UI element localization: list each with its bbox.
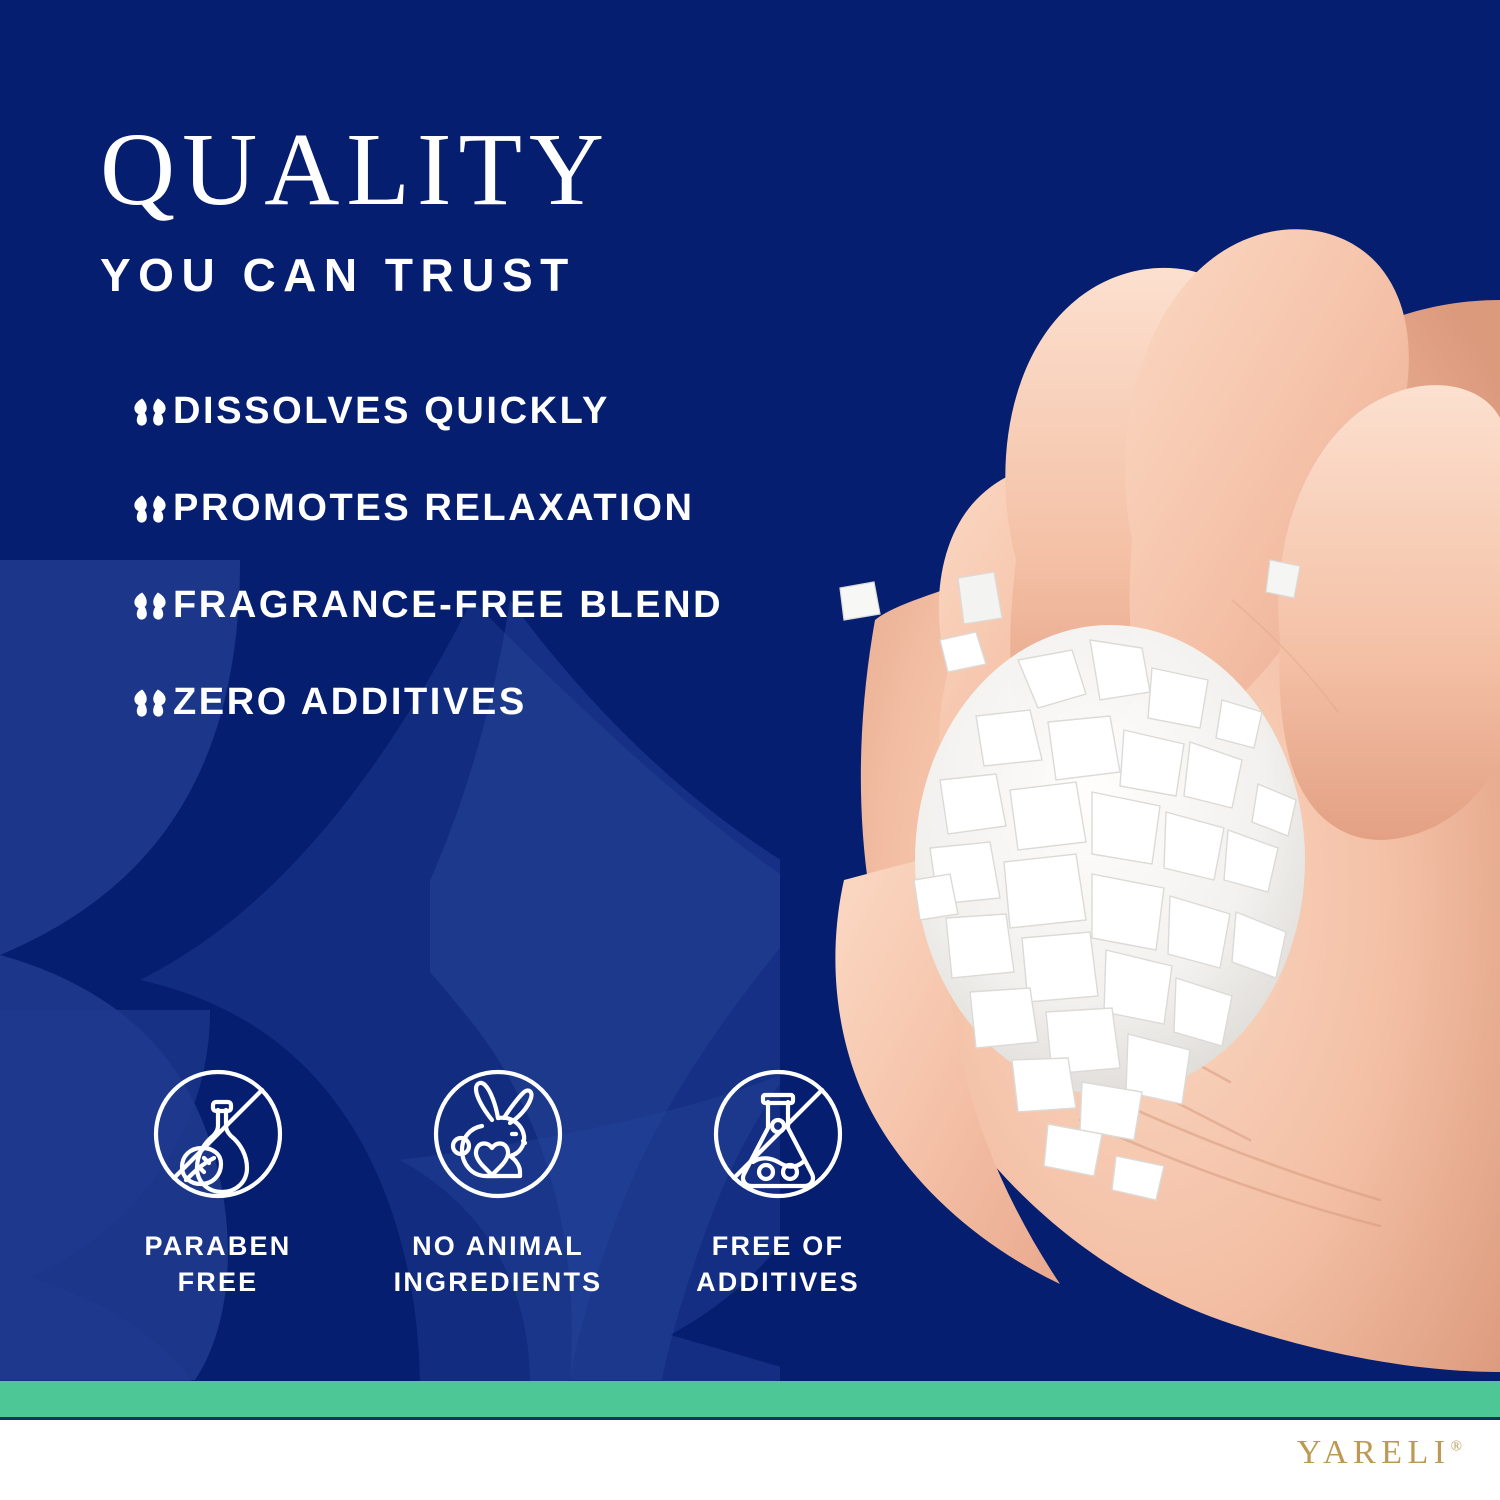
badge-caption: PARABEN FREE	[145, 1228, 292, 1301]
list-item-label: PROMOTES RELAXATION	[173, 489, 695, 527]
benefit-list: DISSOLVES QUICKLY PROMOTES RELAXATION	[133, 362, 893, 750]
badge-free-of-additives: FREE OF ADDITIVES	[638, 1062, 918, 1301]
page-title: QUALITY	[100, 118, 880, 222]
badge-caption: FREE OF ADDITIVES	[696, 1228, 860, 1301]
no-paraben-flask-leaf-icon	[146, 1062, 290, 1206]
page-subtitle: YOU CAN TRUST	[100, 248, 880, 302]
accent-green-band	[0, 1381, 1500, 1417]
footer-bar: YARELI®	[0, 1420, 1500, 1500]
certification-badge-row: PARABEN FREE	[78, 1062, 918, 1301]
brand-logo: YARELI®	[1297, 1434, 1462, 1472]
brand-name: YARELI	[1297, 1434, 1451, 1471]
rabbit-heart-cruelty-free-icon	[426, 1062, 570, 1206]
droplet-pair-icon	[133, 397, 167, 427]
list-item: FRAGRANCE-FREE BLEND	[133, 556, 893, 653]
droplet-pair-icon	[133, 688, 167, 718]
no-additives-flask-icon	[706, 1062, 850, 1206]
list-item-label: DISSOLVES QUICKLY	[173, 392, 610, 430]
infographic-canvas: QUALITY YOU CAN TRUST DISSOLVES QUICKLY	[0, 0, 1500, 1500]
headline-block: QUALITY YOU CAN TRUST	[100, 118, 880, 302]
badge-no-animal-ingredients: NO ANIMAL INGREDIENTS	[358, 1062, 638, 1301]
badge-caption: NO ANIMAL INGREDIENTS	[394, 1228, 603, 1301]
badge-paraben-free: PARABEN FREE	[78, 1062, 358, 1301]
droplet-pair-icon	[133, 591, 167, 621]
list-item: DISSOLVES QUICKLY	[133, 362, 893, 459]
main-panel: QUALITY YOU CAN TRUST DISSOLVES QUICKLY	[0, 0, 1500, 1381]
list-item: PROMOTES RELAXATION	[133, 459, 893, 556]
list-item: ZERO ADDITIVES	[133, 653, 893, 750]
droplet-pair-icon	[133, 494, 167, 524]
list-item-label: FRAGRANCE-FREE BLEND	[173, 586, 723, 624]
registered-trademark-icon: ®	[1451, 1439, 1462, 1455]
list-item-label: ZERO ADDITIVES	[173, 683, 527, 721]
